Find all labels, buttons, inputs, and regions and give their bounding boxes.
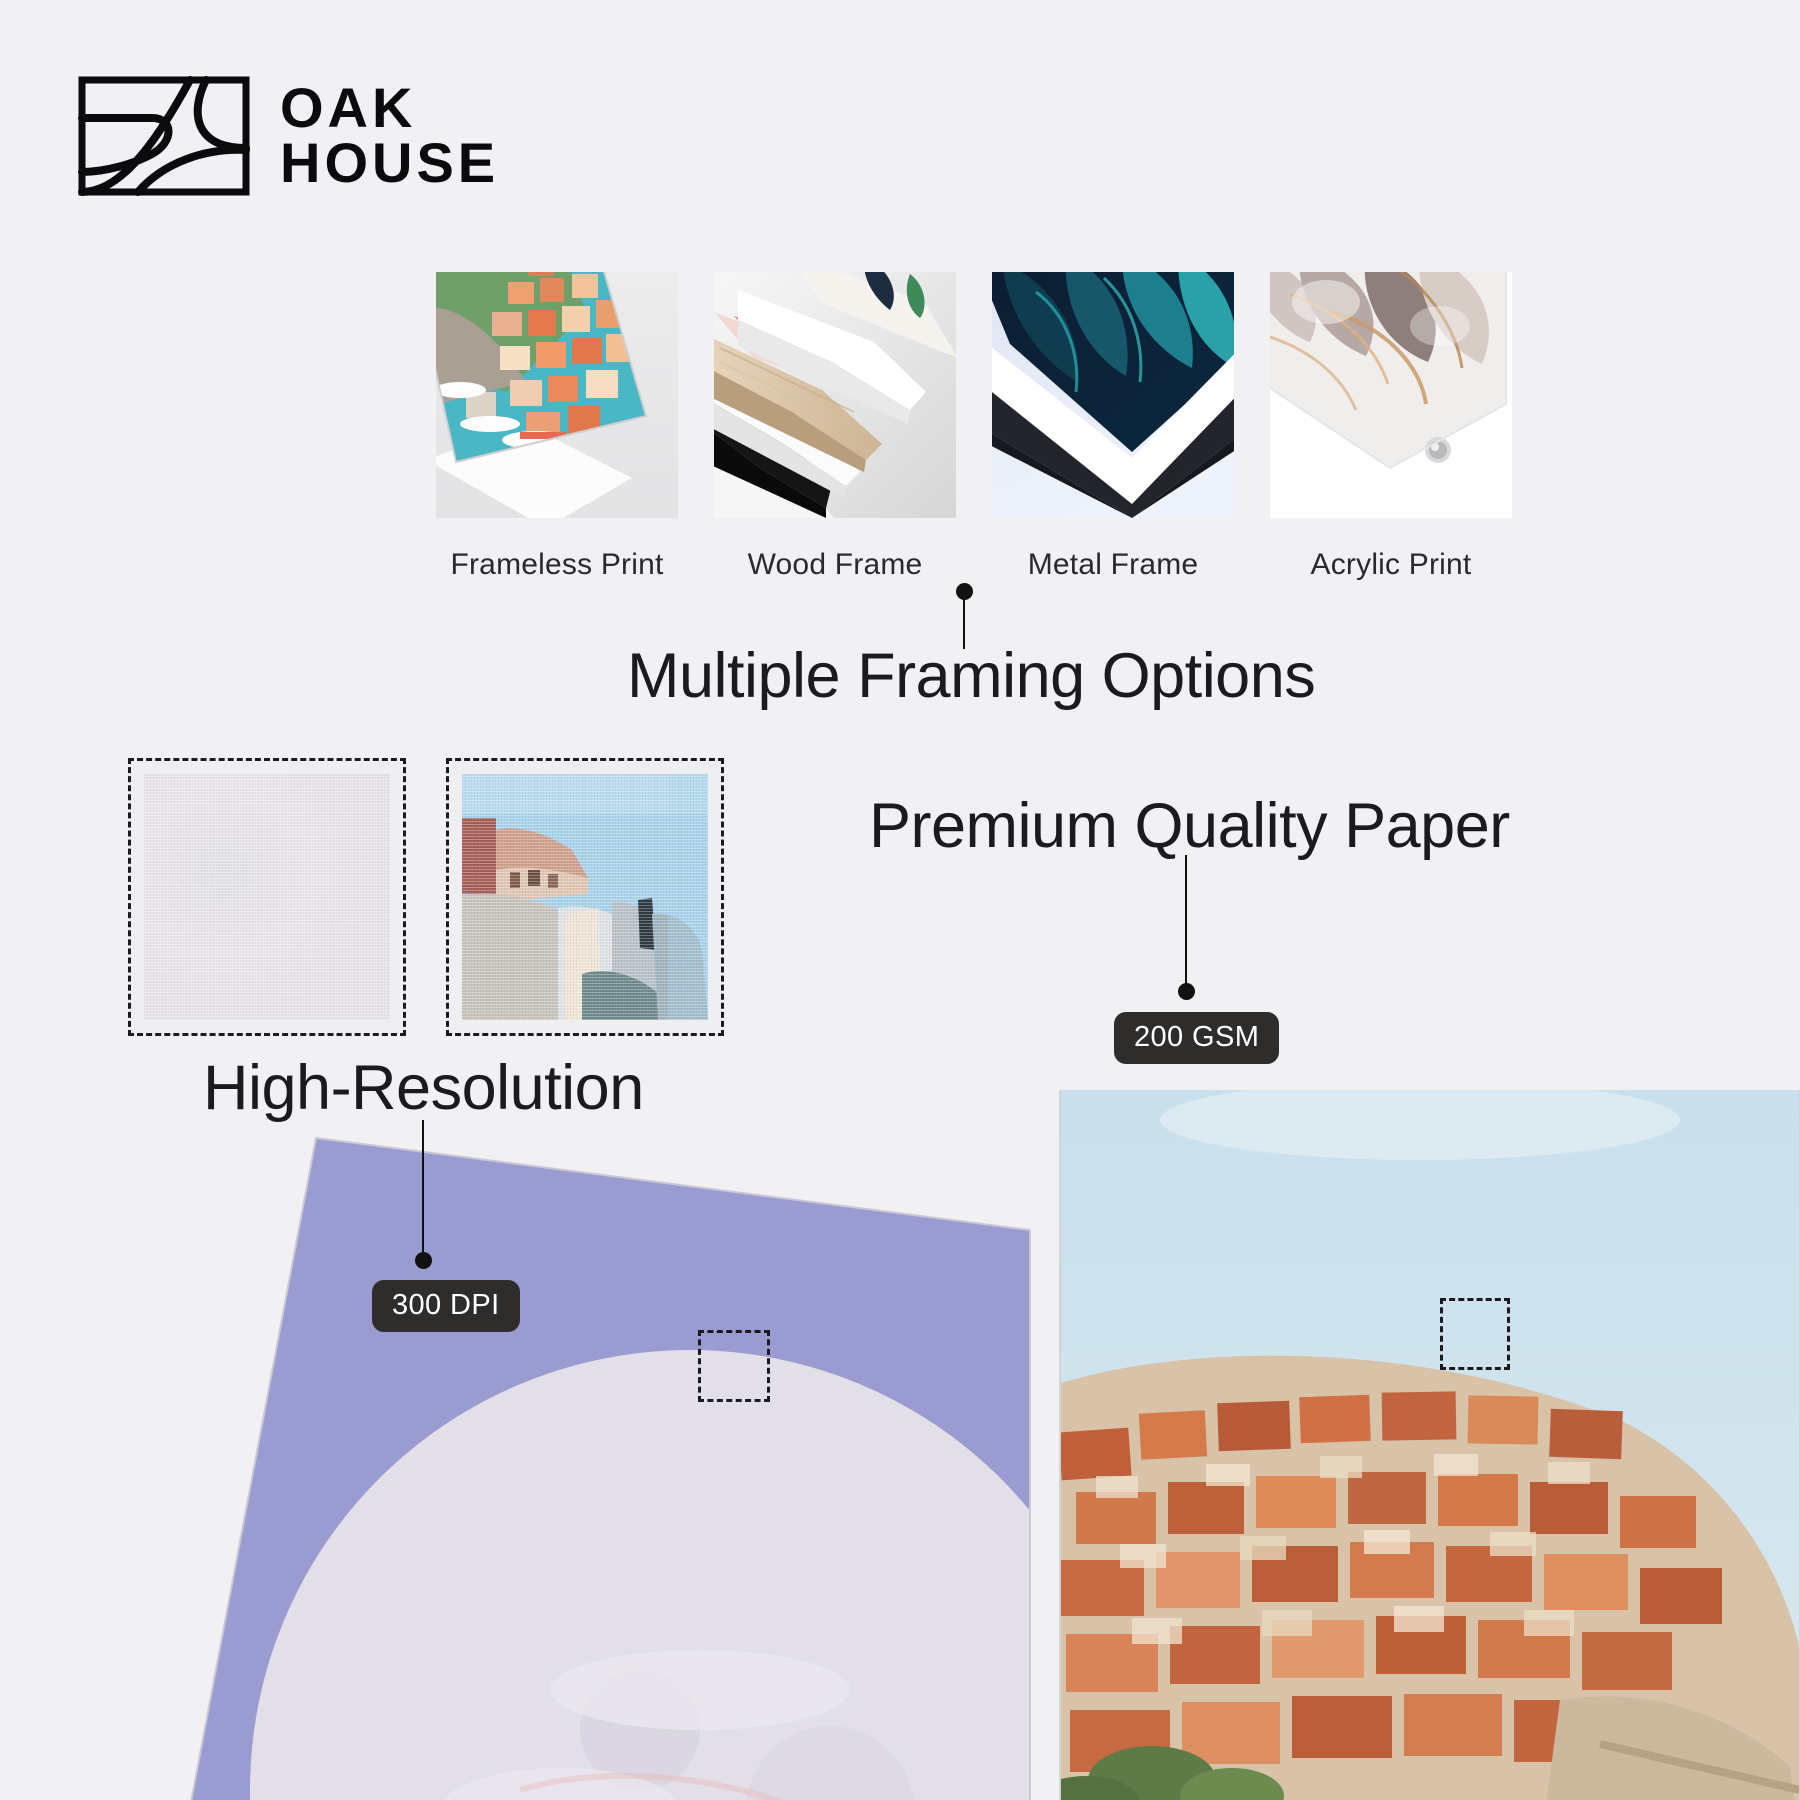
metal-frame-thumb bbox=[992, 272, 1234, 518]
brand-name-line-1: OAK bbox=[280, 81, 499, 136]
brand-wordmark: OAK HOUSE bbox=[280, 81, 499, 191]
paper-heading: Premium Quality Paper bbox=[869, 790, 1510, 862]
brand-logo: OAK HOUSE bbox=[78, 76, 499, 196]
paper-texture-inner bbox=[144, 774, 390, 1020]
resolution-swatch-row bbox=[128, 758, 724, 1036]
photo-poster-zoom-box bbox=[1440, 1298, 1510, 1370]
artwork-zoom-texture bbox=[462, 774, 708, 1020]
dpi-badge: 300 DPI bbox=[372, 1280, 520, 1332]
framing-option-label: Acrylic Print bbox=[1270, 548, 1512, 582]
framing-option-label: Wood Frame bbox=[714, 548, 956, 582]
poster-mockups bbox=[0, 1090, 1800, 1800]
framing-option-acrylic-print[interactable]: Acrylic Print bbox=[1270, 272, 1512, 582]
connector-dot-icon bbox=[415, 1252, 432, 1269]
framing-option-label: Frameless Print bbox=[436, 548, 678, 582]
framing-options-row: Frameless Print bbox=[436, 272, 1512, 582]
artwork-detail-swatch bbox=[446, 758, 724, 1036]
framing-heading: Multiple Framing Options bbox=[627, 640, 1315, 712]
gsm-badge: 200 GSM bbox=[1114, 1012, 1279, 1064]
connector-line bbox=[1185, 855, 1187, 989]
framing-option-wood-frame[interactable]: Wood Frame bbox=[714, 272, 956, 582]
wood-frame-thumb bbox=[714, 272, 956, 518]
brand-name-line-2: HOUSE bbox=[280, 136, 499, 191]
oak-house-landscape-icon bbox=[78, 76, 250, 196]
paper-texture-swatch bbox=[128, 758, 406, 1036]
connector-dot-icon bbox=[1178, 983, 1195, 1000]
acrylic-print-thumb bbox=[1270, 272, 1512, 518]
purple-poster-zoom-box bbox=[698, 1330, 770, 1402]
paper-grain-texture bbox=[144, 774, 390, 1020]
infographic-canvas: OAK HOUSE bbox=[0, 0, 1800, 1800]
artwork-detail-inner bbox=[462, 774, 708, 1020]
framing-option-label: Metal Frame bbox=[992, 548, 1234, 582]
frameless-print-thumb bbox=[436, 272, 678, 518]
framing-option-metal-frame[interactable]: Metal Frame bbox=[992, 272, 1234, 582]
connector-line bbox=[422, 1120, 424, 1258]
framing-option-frameless-print[interactable]: Frameless Print bbox=[436, 272, 678, 582]
